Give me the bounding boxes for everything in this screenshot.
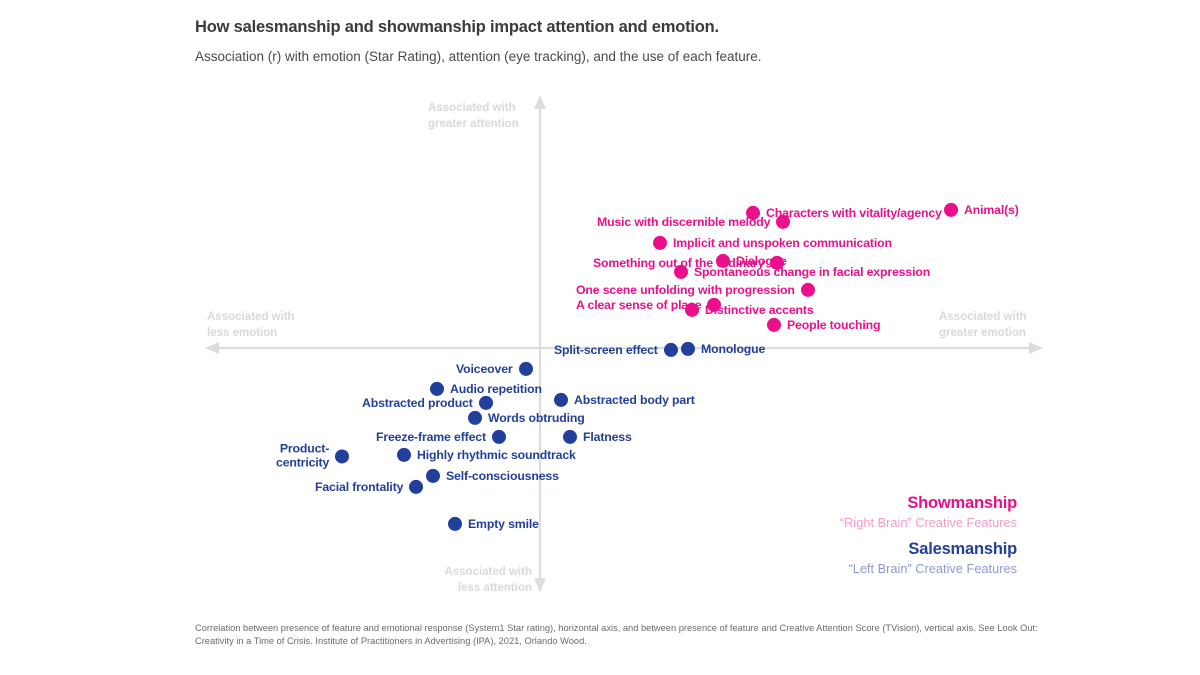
data-point[interactable]: Split-screen effect [554, 343, 678, 357]
chart-page: How salesmanship and showmanship impact … [0, 0, 1200, 675]
data-point-label: Facial frontality [315, 480, 403, 494]
data-point-label: People touching [787, 318, 880, 332]
data-point-label: Freeze-frame effect [376, 430, 486, 444]
data-point-label: Empty smile [468, 517, 539, 531]
data-point-marker [397, 448, 411, 462]
axis-label-bottom: Associated with less attention [430, 565, 532, 596]
data-point[interactable]: Monologue [681, 342, 765, 356]
data-point[interactable]: Implicit and unspoken communication [653, 236, 892, 250]
scatter-plot: Associated with greater attention Associ… [0, 0, 1200, 675]
data-point-marker [554, 393, 568, 407]
data-point[interactable]: People touching [767, 318, 880, 332]
data-point-marker [479, 396, 493, 410]
data-point-marker [430, 382, 444, 396]
data-point[interactable]: Characters with vitality/agency [746, 206, 942, 220]
data-point[interactable]: Flatness [563, 430, 632, 444]
data-point-marker [944, 203, 958, 217]
data-point-marker [468, 411, 482, 425]
data-point-label: Words obtruding [488, 411, 585, 425]
data-point-marker [664, 343, 678, 357]
data-point-label: Highly rhythmic soundtrack [417, 448, 576, 462]
data-point-marker [335, 449, 349, 463]
data-point[interactable]: Words obtruding [468, 411, 585, 425]
data-point-label: Flatness [583, 430, 632, 444]
axis-label-left: Associated with less emotion [207, 310, 295, 341]
data-point-marker [767, 318, 781, 332]
data-point[interactable]: One scene unfolding with progression [576, 283, 815, 297]
data-point[interactable]: Audio repetition [430, 382, 542, 396]
data-point-label: Monologue [701, 342, 765, 356]
data-point[interactable]: Voiceover [456, 362, 533, 376]
data-point-label: Implicit and unspoken communication [673, 236, 892, 250]
legend-item-salesmanship[interactable]: Salesmanship “Left Brain” Creative Featu… [840, 540, 1017, 577]
data-point-label: Characters with vitality/agency [766, 206, 942, 220]
data-point-marker [492, 430, 506, 444]
data-point-marker [426, 469, 440, 483]
data-point-label: Abstracted body part [574, 393, 695, 407]
legend-subtitle-salesmanship: “Left Brain” Creative Features [840, 560, 1017, 577]
data-point-label: Music with discernible melody [597, 215, 770, 229]
data-point[interactable]: Spontaneous change in facial expression [674, 265, 930, 279]
data-point-marker [685, 303, 699, 317]
data-point[interactable]: Animal(s) [944, 203, 1019, 217]
data-point[interactable]: Abstracted product [362, 396, 493, 410]
chart-footnote: Correlation between presence of feature … [195, 622, 1055, 649]
data-point-label: Abstracted product [362, 396, 473, 410]
data-point[interactable]: Self-consciousness [426, 469, 559, 483]
data-point[interactable]: Empty smile [448, 517, 539, 531]
data-point-marker [674, 265, 688, 279]
data-point-label: Spontaneous change in facial expression [694, 265, 930, 279]
data-point-marker [681, 342, 695, 356]
data-point-label: Voiceover [456, 362, 513, 376]
data-point-label: A clear sense of place [576, 298, 701, 312]
data-point-marker [519, 362, 533, 376]
data-point-label: Self-consciousness [446, 469, 559, 483]
axis-label-top: Associated with greater attention [428, 101, 519, 132]
data-point[interactable]: Facial frontality [315, 480, 423, 494]
data-point-marker [448, 517, 462, 531]
data-point[interactable]: Freeze-frame effect [376, 430, 506, 444]
data-point[interactable]: Abstracted body part [554, 393, 695, 407]
axis-label-right: Associated with greater emotion [939, 310, 1027, 341]
legend-title-showmanship: Showmanship [840, 494, 1017, 513]
data-point-marker [746, 206, 760, 220]
data-point-marker [409, 480, 423, 494]
data-point[interactable]: Product-centricity [276, 442, 349, 469]
data-point-label: Split-screen effect [554, 343, 658, 357]
data-point-label: Product-centricity [276, 442, 329, 469]
legend-item-showmanship[interactable]: Showmanship “Right Brain” Creative Featu… [840, 494, 1017, 531]
legend: Showmanship “Right Brain” Creative Featu… [840, 494, 1017, 586]
legend-title-salesmanship: Salesmanship [840, 540, 1017, 559]
data-point-marker [801, 283, 815, 297]
data-point-label: Distinctive accents [705, 303, 814, 317]
data-point[interactable]: Highly rhythmic soundtrack [397, 448, 576, 462]
data-point-label: Audio repetition [450, 382, 542, 396]
data-point-label: Animal(s) [964, 203, 1019, 217]
legend-subtitle-showmanship: “Right Brain” Creative Features [840, 514, 1017, 531]
data-point-marker [653, 236, 667, 250]
data-point-label: One scene unfolding with progression [576, 283, 795, 297]
data-point[interactable]: Distinctive accents [685, 303, 814, 317]
data-point-marker [563, 430, 577, 444]
